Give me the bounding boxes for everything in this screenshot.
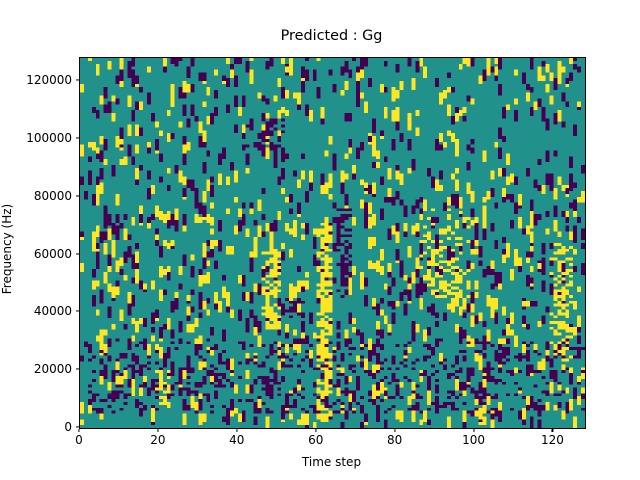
x-tick-mark [78, 429, 79, 433]
y-axis-label: Frequency (Hz) [0, 189, 14, 309]
y-tick-label: 100000 [0, 131, 72, 145]
x-tick-label: 20 [150, 433, 165, 447]
x-tick-mark [236, 429, 237, 433]
x-tick-mark [394, 429, 395, 433]
heatmap-plot-area [79, 57, 586, 429]
x-tick-label: 80 [387, 433, 402, 447]
y-tick-label: 20000 [0, 362, 72, 376]
y-tick-label: 0 [0, 420, 72, 434]
x-tick-label: 120 [541, 433, 564, 447]
y-tick-mark [76, 369, 80, 370]
x-tick-mark [157, 429, 158, 433]
x-tick-label: 60 [308, 433, 323, 447]
x-tick-label: 100 [462, 433, 485, 447]
x-tick-label: 40 [229, 433, 244, 447]
x-tick-mark [315, 429, 316, 433]
y-tick-mark [76, 311, 80, 312]
y-tick-mark [76, 195, 80, 196]
heatmap-image [80, 58, 585, 428]
y-tick-mark [76, 253, 80, 254]
x-tick-mark [473, 429, 474, 433]
y-tick-mark [76, 426, 80, 427]
y-tick-mark [76, 80, 80, 81]
x-axis-label: Time step [79, 455, 584, 469]
x-tick-label: 0 [75, 433, 83, 447]
y-tick-label: 120000 [0, 73, 72, 87]
y-tick-mark [76, 137, 80, 138]
page-title: Predicted : Gg [79, 28, 584, 44]
x-tick-mark [552, 429, 553, 433]
matplotlib-figure: Predicted : Gg 0200004000060000800001000… [0, 0, 640, 480]
